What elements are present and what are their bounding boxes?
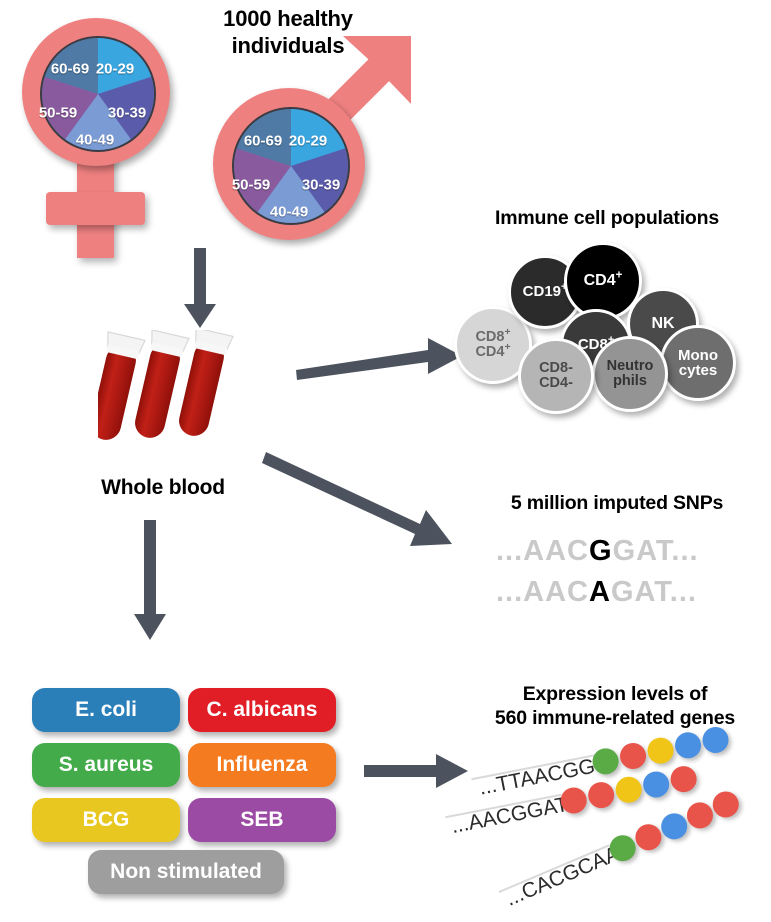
male-age-label-30-39: 30-39 [302, 177, 340, 194]
arrow-cohort-to-blood [178, 248, 222, 332]
female-age-label-50-59: 50-59 [39, 105, 77, 122]
male-age-label-60-69: 60-69 [244, 133, 282, 150]
stimulation-pill-c-albicans[interactable]: C. albicans [188, 688, 336, 732]
female-gender-symbol: 20-29 30-39 40-49 50-59 60-69 [8, 14, 183, 254]
immune-bubble-neutrophils-label: Neutrophils [607, 359, 654, 389]
snp-allele-line-2: ...AACAGAT... [496, 576, 697, 609]
snp-allele-2-suffix: GAT... [611, 576, 697, 608]
whole-blood-label: Whole blood [78, 475, 248, 501]
immune-cell-populations-title: Immune cell populations [452, 207, 762, 231]
snp-allele-1-variant: G [589, 535, 613, 567]
arrow-blood-to-immune-cells [296, 330, 464, 386]
immune-bubble-cd8pos-cd4pos-label: CD8+CD4+ [475, 330, 510, 360]
stimulation-pill-influenza[interactable]: Influenza [188, 743, 336, 787]
female-symbol-crossbar [46, 192, 145, 225]
male-age-label-40-49: 40-49 [270, 204, 308, 221]
female-age-label-20-29: 20-29 [96, 61, 134, 78]
immune-cell-bubble-cluster: CD8+CD4+ CD19+ CD4+ CD8+ NK Monocytes Ne… [452, 240, 762, 410]
expression-dot [618, 741, 648, 771]
expression-title-line1: Expression levels of [462, 683, 768, 707]
snp-allele-line-1: ...AACGGAT... [496, 535, 699, 568]
immune-bubble-monocytes-label: Monocytes [678, 348, 718, 379]
female-age-label-40-49: 40-49 [76, 132, 114, 149]
immune-bubble-cd4pos-label: CD4+ [584, 273, 623, 289]
male-gender-symbol: 20-29 30-39 40-49 50-59 60-69 [205, 30, 420, 245]
male-age-label-50-59: 50-59 [232, 177, 270, 194]
stimulation-panel: E. coli C. albicans S. aureus Influenza … [30, 688, 350, 893]
expression-dot [645, 735, 675, 765]
arrow-blood-to-stimulation [128, 520, 172, 644]
snp-allele-2-prefix: ...AAC [496, 576, 589, 608]
expression-title: Expression levels of 560 immune-related … [462, 683, 768, 731]
female-age-label-60-69: 60-69 [51, 61, 89, 78]
immune-bubble-cd8neg-cd4neg-label: CD8-CD4- [539, 361, 573, 391]
stimulation-pill-c-albicans-label: C. albicans [207, 698, 318, 722]
stimulation-pill-bcg[interactable]: BCG [32, 798, 180, 842]
stimulation-pill-influenza-label: Influenza [216, 753, 307, 777]
immune-bubble-monocytes[interactable]: Monocytes [660, 325, 736, 401]
male-age-label-20-29: 20-29 [289, 133, 327, 150]
immune-bubble-nk-label: NK [651, 316, 674, 332]
expression-strands: ...TTAACGG ...AACGGAT ...CACGCAA [452, 740, 771, 905]
cohort-heading-line1: 1000 healthy [176, 6, 400, 33]
expression-strand-3-sequence: ...CACGCAA [502, 842, 623, 912]
stimulation-pill-seb[interactable]: SEB [188, 798, 336, 842]
female-age-label-30-39: 30-39 [108, 105, 146, 122]
immune-bubble-cd8neg-cd4neg[interactable]: CD8-CD4- [518, 338, 594, 414]
stimulation-pill-e-coli-label: E. coli [75, 698, 137, 722]
stimulation-pill-seb-label: SEB [240, 808, 283, 832]
immune-bubble-neutrophils[interactable]: Neutrophils [592, 336, 668, 412]
arrow-blood-to-snps [262, 448, 460, 556]
stimulation-pill-s-aureus[interactable]: S. aureus [32, 743, 180, 787]
expression-dot [673, 730, 703, 760]
immune-bubble-cd19pos-label: CD19+ [523, 284, 568, 299]
blood-tubes [98, 330, 268, 460]
figure-canvas: 1000 healthy individuals 20-29 30-39 40-… [0, 0, 771, 922]
stimulation-pill-bcg-label: BCG [83, 808, 130, 832]
stimulation-pill-non-stimulated[interactable]: Non stimulated [88, 850, 284, 894]
snp-allele-2-variant: A [589, 576, 611, 608]
snp-allele-1-suffix: GAT... [613, 535, 699, 567]
stimulation-pill-e-coli[interactable]: E. coli [32, 688, 180, 732]
stimulation-pill-s-aureus-label: S. aureus [59, 753, 154, 777]
snps-title: 5 million imputed SNPs [472, 492, 762, 516]
snp-allele-1-prefix: ...AAC [496, 535, 589, 567]
stimulation-pill-non-stimulated-label: Non stimulated [110, 860, 262, 884]
